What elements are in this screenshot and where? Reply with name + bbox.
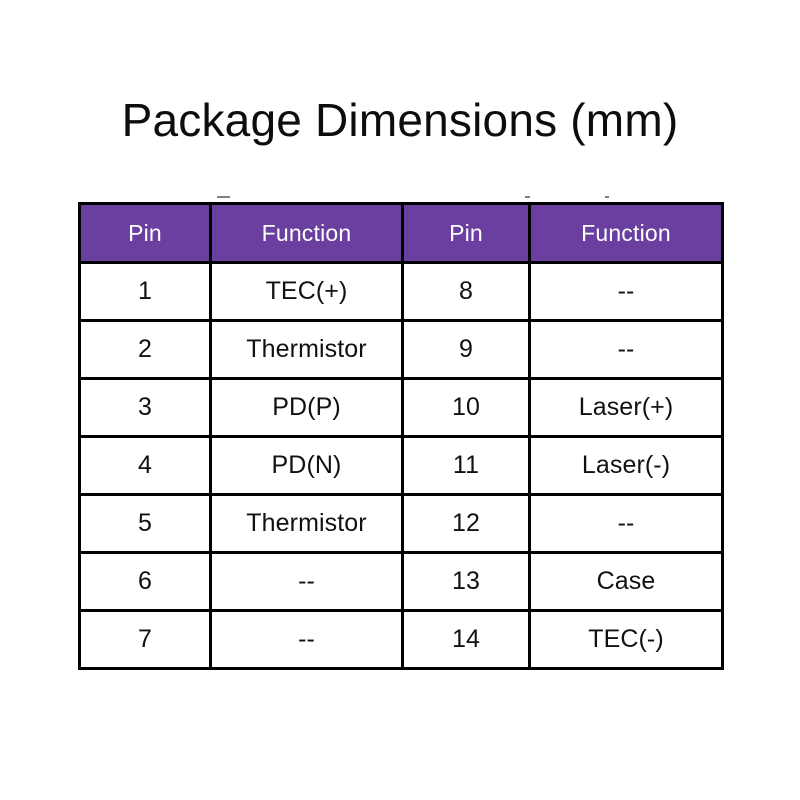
- cell-pin-right: 14: [403, 611, 530, 669]
- cell-pin-right: 10: [403, 379, 530, 437]
- cell-function-right: --: [530, 495, 723, 553]
- cell-function-right: Laser(+): [530, 379, 723, 437]
- cell-pin-right: 8: [403, 263, 530, 321]
- clipped-text-artifact: [217, 196, 230, 198]
- cell-function-right: --: [530, 321, 723, 379]
- cell-pin-right: 13: [403, 553, 530, 611]
- cell-function-left: TEC(+): [211, 263, 403, 321]
- cell-function-left: PD(P): [211, 379, 403, 437]
- column-header-pin-left: Pin: [80, 204, 211, 263]
- cell-pin-left: 1: [80, 263, 211, 321]
- cell-function-left: Thermistor: [211, 495, 403, 553]
- cell-function-right: --: [530, 263, 723, 321]
- cell-pin-left: 6: [80, 553, 211, 611]
- table-row: 7 -- 14 TEC(-): [80, 611, 723, 669]
- cell-function-left: Thermistor: [211, 321, 403, 379]
- cell-pin-right: 9: [403, 321, 530, 379]
- cell-pin-left: 3: [80, 379, 211, 437]
- cell-pin-right: 11: [403, 437, 530, 495]
- pinout-table: Pin Function Pin Function 1 TEC(+) 8 -- …: [78, 202, 724, 670]
- page-title: Package Dimensions (mm): [0, 94, 800, 146]
- column-header-function-left: Function: [211, 204, 403, 263]
- cell-function-left: PD(N): [211, 437, 403, 495]
- cell-function-right: TEC(-): [530, 611, 723, 669]
- clipped-text-artifact: [605, 196, 609, 198]
- pinout-table-container: Pin Function Pin Function 1 TEC(+) 8 -- …: [78, 202, 721, 648]
- table-row: 4 PD(N) 11 Laser(-): [80, 437, 723, 495]
- cell-function-left: --: [211, 611, 403, 669]
- cell-pin-left: 7: [80, 611, 211, 669]
- cell-pin-left: 5: [80, 495, 211, 553]
- cell-function-right: Case: [530, 553, 723, 611]
- cell-function-right: Laser(-): [530, 437, 723, 495]
- cell-pin-right: 12: [403, 495, 530, 553]
- cell-pin-left: 2: [80, 321, 211, 379]
- table-header-row: Pin Function Pin Function: [80, 204, 723, 263]
- column-header-function-right: Function: [530, 204, 723, 263]
- table-row: 6 -- 13 Case: [80, 553, 723, 611]
- clipped-text-artifact: [525, 196, 530, 198]
- table-row: 1 TEC(+) 8 --: [80, 263, 723, 321]
- page-root: Package Dimensions (mm) Pin Function Pin…: [0, 0, 800, 800]
- cell-pin-left: 4: [80, 437, 211, 495]
- table-row: 2 Thermistor 9 --: [80, 321, 723, 379]
- table-row: 3 PD(P) 10 Laser(+): [80, 379, 723, 437]
- table-row: 5 Thermistor 12 --: [80, 495, 723, 553]
- column-header-pin-right: Pin: [403, 204, 530, 263]
- cell-function-left: --: [211, 553, 403, 611]
